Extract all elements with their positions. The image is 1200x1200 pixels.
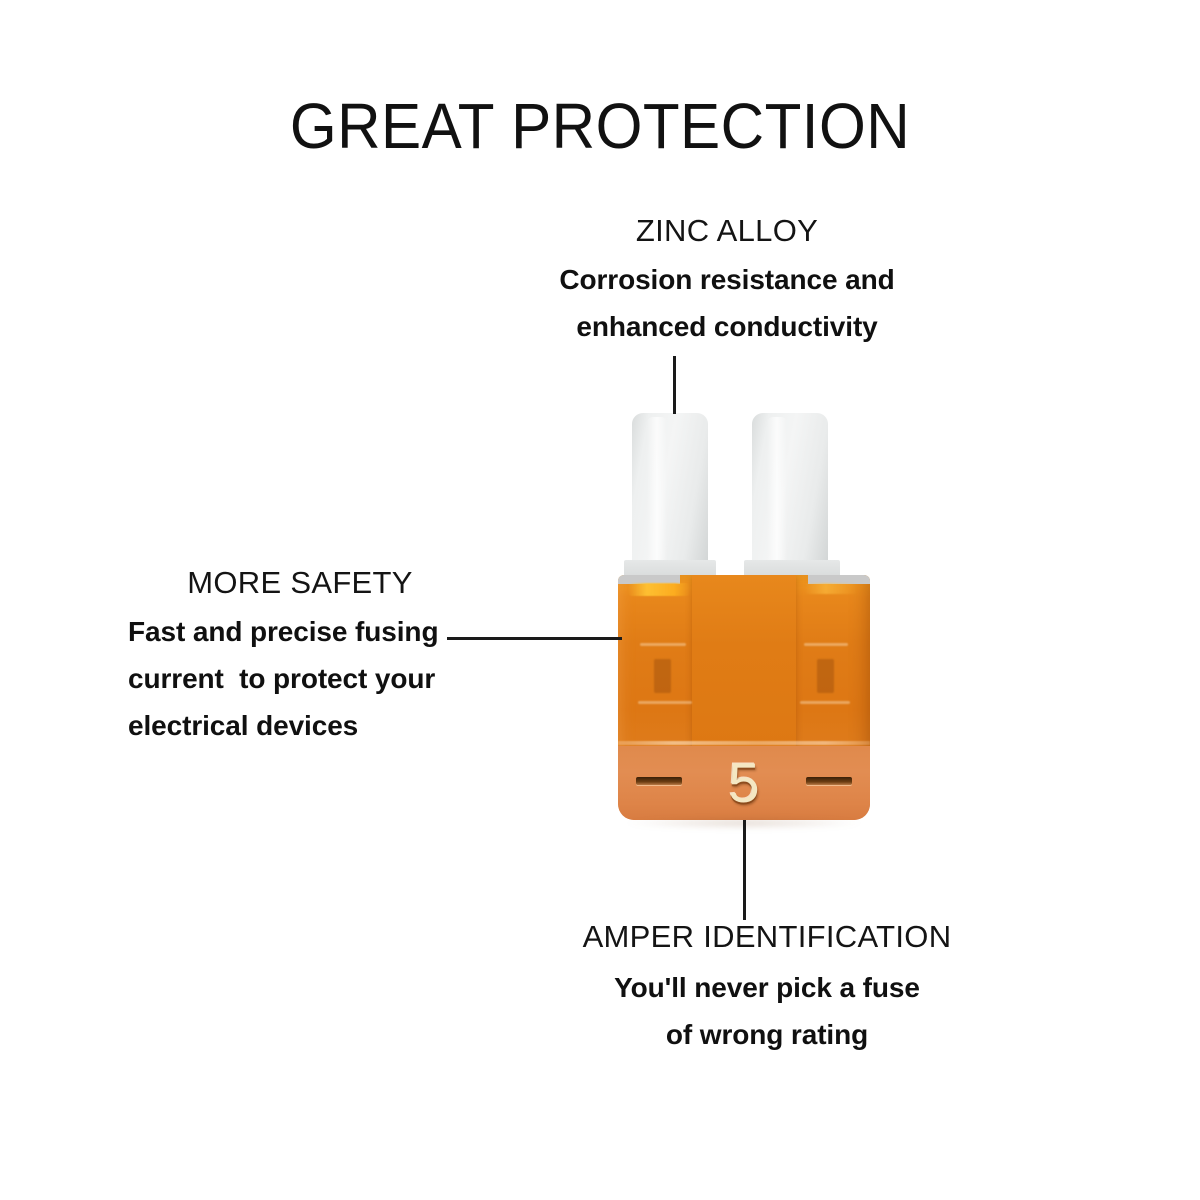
callout-heading-more-safety: MORE SAFETY [128, 564, 458, 602]
fuse-internal-streak [804, 643, 848, 646]
fuse-body-highlight-right [804, 583, 858, 594]
callout-heading-amper-identification: AMPER IDENTIFICATION [487, 918, 1047, 956]
callout-line: Fast and precise fusing [128, 608, 458, 655]
fuse-internal-element-right [817, 659, 834, 693]
fuse-internal-streak [638, 701, 692, 704]
callout-line: enhanced conductivity [447, 303, 1007, 350]
fuse-plastic-body: 5 [618, 575, 870, 820]
infographic-canvas: GREAT PROTECTION 5 [0, 0, 1200, 1200]
leader-line-more-safety [447, 637, 622, 640]
callout-line: of wrong rating [487, 1011, 1047, 1058]
callout-zinc-alloy: ZINC ALLOY Corrosion resistance and enha… [447, 212, 1007, 350]
fuse-internal-streak [800, 701, 850, 704]
callout-amper-identification: AMPER IDENTIFICATION You'll never pick a… [487, 918, 1047, 1058]
leader-line-zinc-alloy [673, 356, 676, 414]
leader-line-amper-identification [743, 820, 746, 920]
callout-line: current to protect your [128, 655, 458, 702]
fuse-body-highlight-left [628, 583, 690, 596]
callout-line: You'll never pick a fuse [487, 964, 1047, 1011]
fuse-body-base-band: 5 [618, 746, 870, 820]
fuse-internal-element-left [654, 659, 671, 693]
callout-line: electrical devices [128, 702, 458, 749]
fuse-product-image: 5 [600, 400, 900, 840]
callout-more-safety: MORE SAFETY Fast and precise fusing curr… [128, 564, 458, 749]
fuse-body-center-rib [692, 575, 796, 751]
amp-rating-number: 5 [618, 754, 870, 812]
callout-heading-zinc-alloy: ZINC ALLOY [447, 212, 1007, 250]
callout-line: Corrosion resistance and [447, 256, 1007, 303]
fuse-body-seam [618, 741, 870, 745]
page-title: GREAT PROTECTION [36, 92, 1164, 160]
fuse-internal-streak [640, 643, 686, 646]
